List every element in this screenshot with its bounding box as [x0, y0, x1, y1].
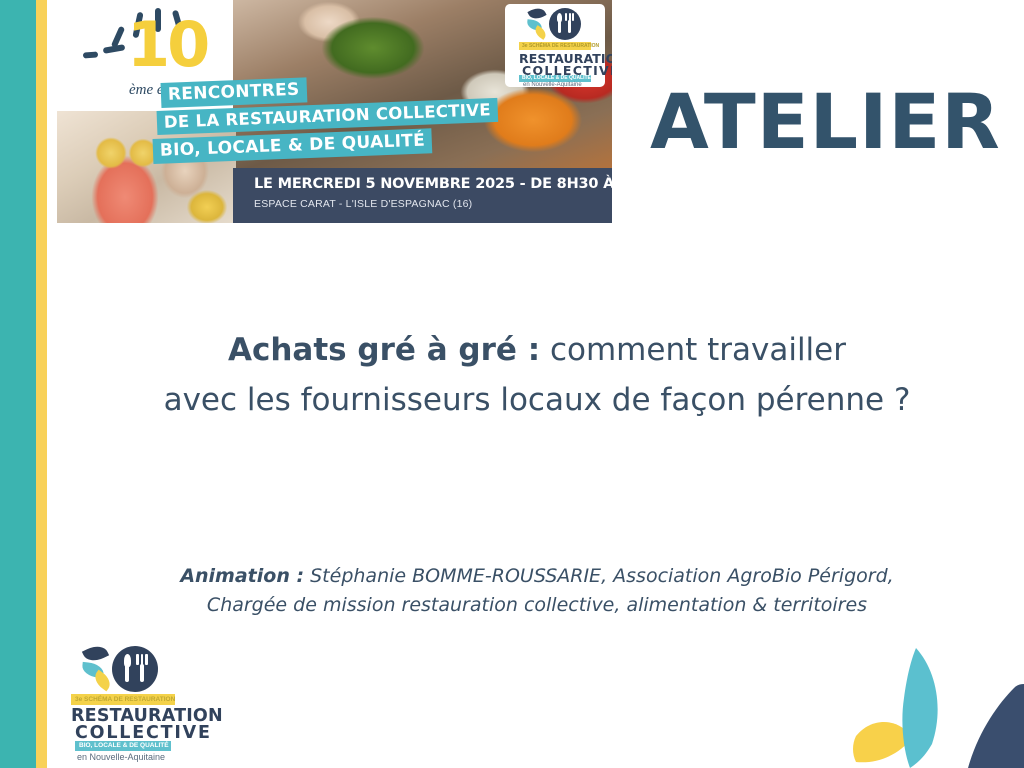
leaf-yellow-icon	[533, 25, 549, 40]
fork-tine-icon	[572, 13, 574, 21]
logo-mark	[527, 7, 585, 41]
animation-label: Animation :	[180, 565, 304, 587]
leaf-navy-icon	[968, 684, 1024, 768]
event-banner: 10 ème édition RENCONTRES DE LA RESTAURA…	[57, 0, 612, 223]
fork-tine-icon	[145, 654, 148, 665]
burst-ray-icon	[83, 51, 98, 58]
atelier-title: ATELIER	[650, 84, 1001, 160]
yellow-side-bar	[36, 0, 47, 768]
banner-info-bar: LE MERCREDI 5 NOVEMBRE 2025 - DE 8H30 À …	[233, 168, 612, 223]
logo-tagline-bottom-band: BIO, LOCALE & DE QUALITÉ	[519, 75, 591, 82]
fork-tine-icon	[569, 13, 571, 21]
plate-circle-icon	[112, 646, 158, 692]
slide-main-title: Achats gré à gré : comment travailler av…	[57, 325, 1017, 425]
fork-icon	[568, 20, 571, 33]
animation-credits: Animation : Stéphanie BOMME-ROUSSARIE, A…	[57, 562, 1017, 620]
edition-number: 10	[127, 14, 207, 76]
main-title-rest: comment travailler	[540, 332, 846, 368]
plate-circle-icon	[549, 8, 581, 40]
main-title-line-2: avec les fournisseurs locaux de façon pé…	[57, 375, 1017, 425]
main-title-emphasis: Achats gré à gré :	[228, 332, 540, 368]
banner-date-line: LE MERCREDI 5 NOVEMBRE 2025 - DE 8H30 À …	[254, 176, 612, 192]
restauration-collective-logo: 3e SCHÉMA DE RESTAURATION RESTAURATION C…	[62, 645, 184, 755]
fork-tine-icon	[136, 654, 139, 665]
logo-tagline-top-band: 3e SCHÉMA DE RESTAURATION	[71, 694, 175, 705]
corner-leaf-decoration	[838, 632, 1024, 768]
animation-speaker: Stéphanie BOMME-ROUSSARIE, Association A…	[304, 565, 894, 587]
main-title-line-1: Achats gré à gré : comment travailler	[57, 325, 1017, 375]
restauration-collective-logo-small: 3e SCHÉMA DE RESTAURATION RESTAURATION C…	[505, 4, 605, 87]
animation-line-2: Chargée de mission restauration collecti…	[57, 591, 1017, 620]
knife-tip-icon	[557, 13, 562, 22]
knife-tip-icon	[124, 654, 131, 667]
teal-side-bar	[0, 0, 36, 768]
logo-word-collective: COLLECTIVE	[75, 723, 212, 743]
logo-region-label: en Nouvelle-Aquitaine	[523, 82, 582, 88]
logo-region-label: en Nouvelle-Aquitaine	[77, 752, 165, 762]
logo-tagline-bottom-band: BIO, LOCALE & DE QUALITÉ	[75, 741, 171, 751]
leaf-teal-icon	[902, 648, 937, 768]
corner-leaves-svg	[838, 632, 1024, 768]
logo-mark	[82, 645, 162, 693]
logo-tagline-top-band: 3e SCHÉMA DE RESTAURATION	[519, 42, 591, 50]
fork-tine-icon	[565, 13, 567, 21]
fork-tine-icon	[141, 654, 144, 665]
banner-logo-card: 3e SCHÉMA DE RESTAURATION RESTAURATION C…	[505, 4, 605, 87]
animation-line-1: Animation : Stéphanie BOMME-ROUSSARIE, A…	[57, 562, 1017, 591]
fork-icon	[140, 664, 144, 682]
banner-venue-line: ESPACE CARAT - L'ISLE D'ESPAGNAC (16)	[254, 198, 472, 210]
